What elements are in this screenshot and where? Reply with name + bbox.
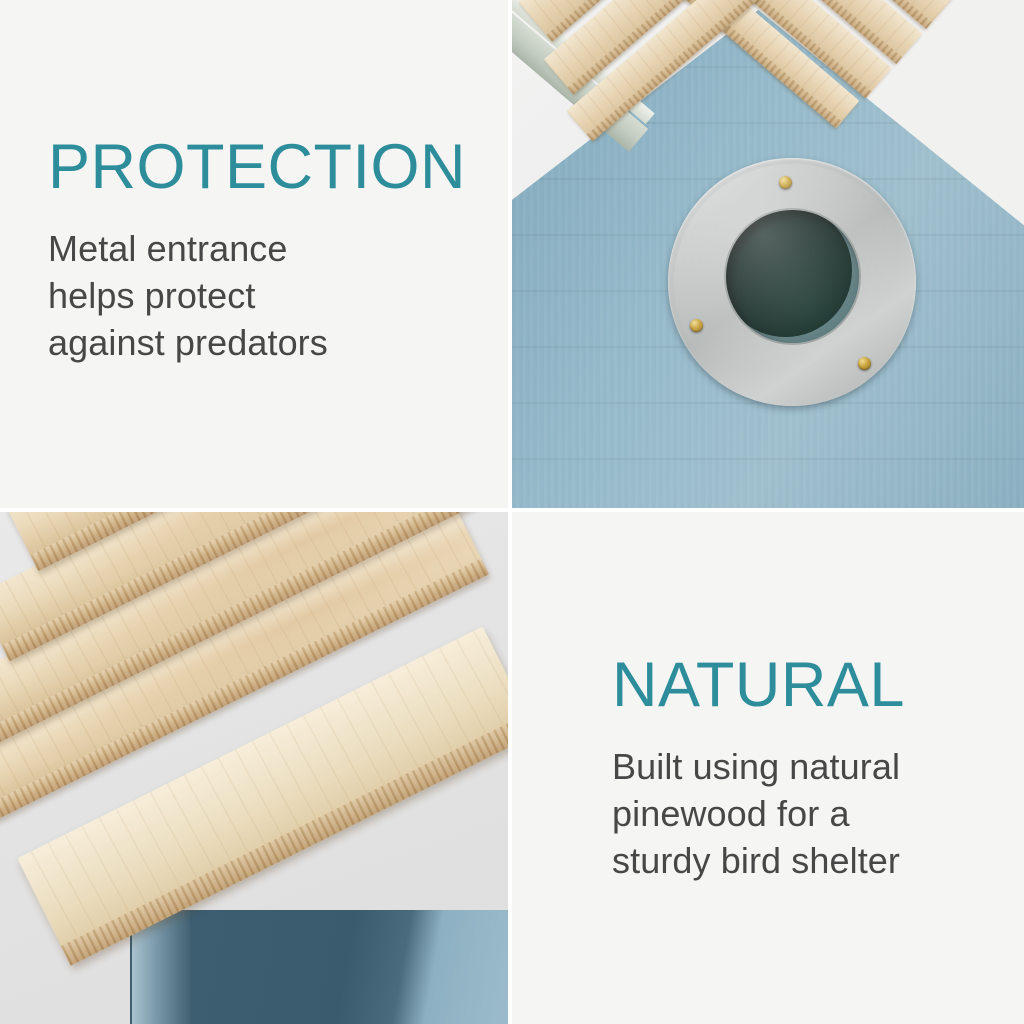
natural-text-block: NATURAL Built using natural pinewood for… [612, 654, 905, 884]
description-line: against predators [48, 319, 466, 366]
description-line: sturdy bird shelter [612, 837, 905, 884]
protection-text-block: PROTECTION Metal entrance helps protect … [48, 136, 466, 366]
brass-screw-icon [858, 357, 871, 370]
description-line: helps protect [48, 272, 466, 319]
metal-entrance-plate [668, 158, 916, 406]
description-line: pinewood for a [612, 790, 905, 837]
photo-pine-roof-corner: Corner of a birdhouse roof showing five … [0, 512, 508, 1024]
entrance-hole [726, 210, 859, 343]
description-line: Built using natural [612, 743, 905, 790]
feature-panel-protection: PROTECTION Metal entrance helps protect … [0, 0, 508, 508]
photo-entrance-closeup: Close-up of a birdhouse gable with a rou… [512, 0, 1024, 508]
feature-title-natural: NATURAL [612, 654, 905, 717]
feature-title-protection: PROTECTION [48, 136, 466, 199]
feature-photo-pine-roof: Corner of a birdhouse roof showing five … [0, 512, 508, 1024]
feature-photo-entrance-closeup: Close-up of a birdhouse gable with a rou… [512, 0, 1024, 508]
description-line: Metal entrance [48, 225, 466, 272]
feature-poster: PROTECTION Metal entrance helps protect … [0, 0, 1024, 1024]
brass-screw-icon [690, 319, 703, 332]
feature-description-natural: Built using natural pinewood for a sturd… [612, 743, 905, 884]
brass-screw-icon [779, 176, 792, 189]
feature-description-protection: Metal entrance helps protect against pre… [48, 225, 466, 366]
feature-panel-natural: NATURAL Built using natural pinewood for… [512, 512, 1024, 1024]
